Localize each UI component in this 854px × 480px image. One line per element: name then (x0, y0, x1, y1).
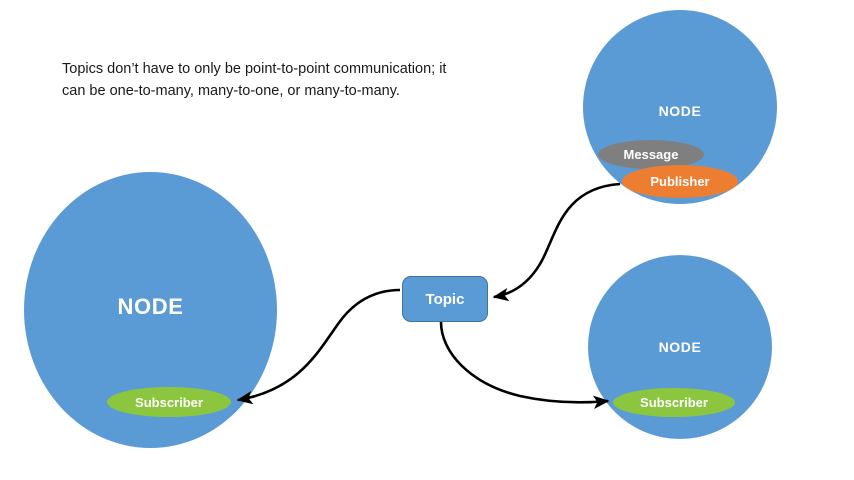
arrow-publisher-to-topic (494, 184, 620, 297)
subscriber-ellipse-right: Subscriber (613, 388, 735, 417)
diagram-canvas: Topics don’t have to only be point-to-po… (0, 0, 854, 480)
publisher-ellipse: Publisher (622, 165, 738, 198)
node-label-left: NODE (24, 294, 277, 320)
caption-text: Topics don’t have to only be point-to-po… (62, 58, 482, 103)
topic-box: Topic (402, 276, 488, 322)
node-label-top-right: NODE (583, 103, 777, 119)
subscriber-ellipse-left: Subscriber (107, 387, 231, 417)
arrow-topic-to-subscriber-right (441, 322, 608, 402)
node-label-bottom-right: NODE (588, 339, 772, 355)
